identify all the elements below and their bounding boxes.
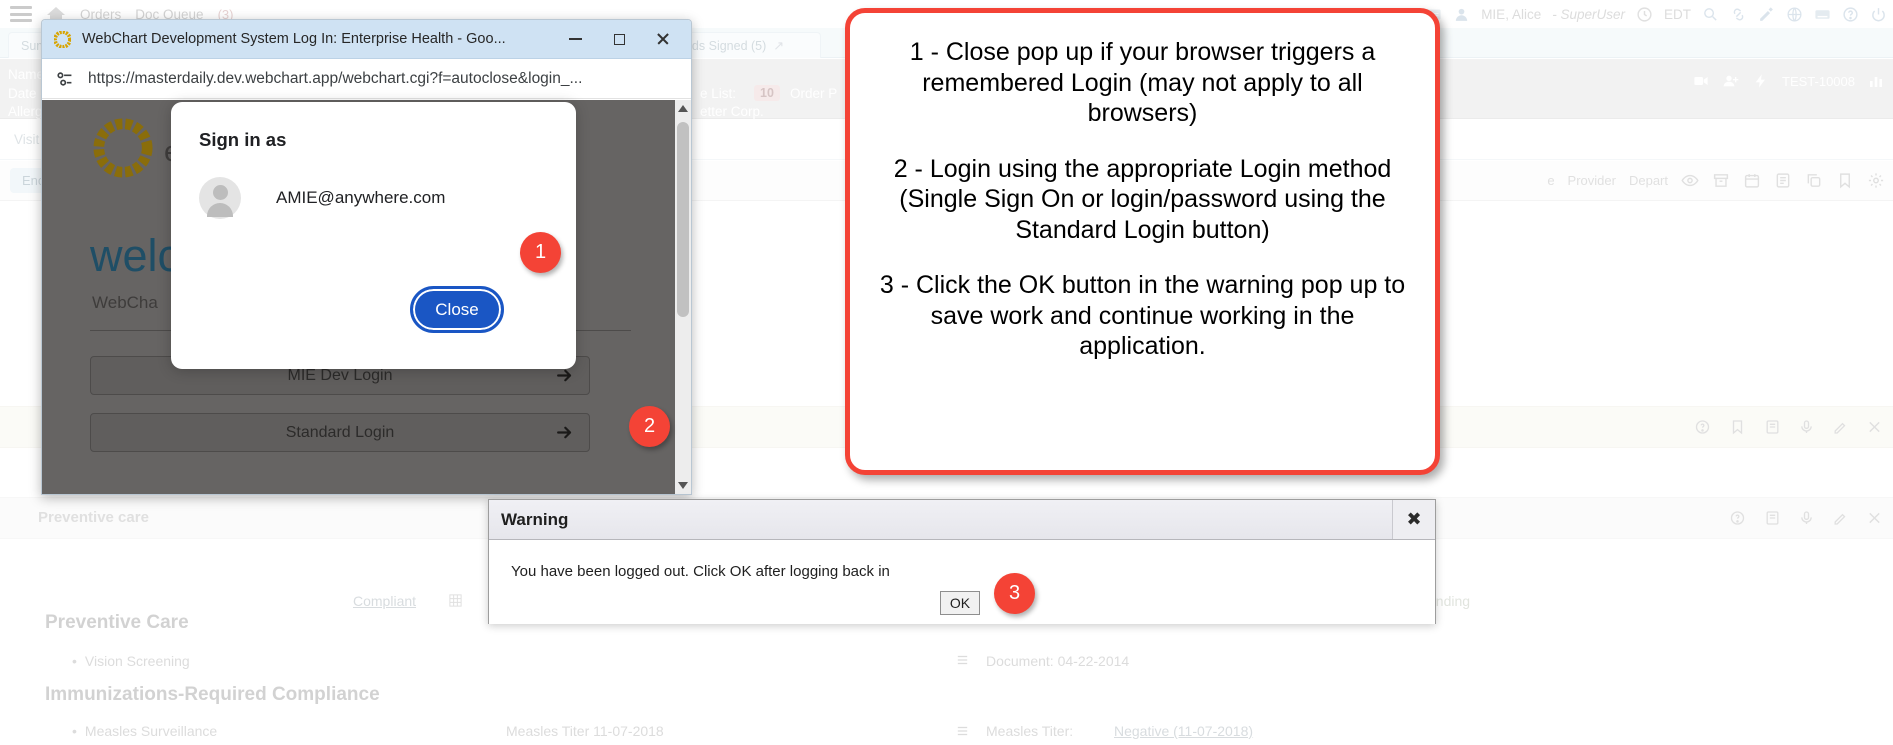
calendar-icon[interactable] xyxy=(1743,172,1761,189)
scroll-down-arrow-icon[interactable] xyxy=(678,482,688,489)
pencil-icon[interactable] xyxy=(1758,6,1775,23)
encounter-toolbar: e Provider Depart xyxy=(1547,172,1885,189)
preventive-care-heading: Preventive Care xyxy=(45,612,189,634)
help-icon[interactable] xyxy=(1842,6,1859,23)
measles-titer-result[interactable]: Negative (11-07-2018) xyxy=(1114,723,1253,739)
list-item-icon-2 xyxy=(955,724,970,738)
notes-band-icon-2[interactable] xyxy=(1764,510,1781,526)
standard-login-button[interactable]: Standard Login xyxy=(90,413,590,452)
step-badge-2: 2 xyxy=(629,406,670,447)
help-circle-icon[interactable] xyxy=(1694,419,1711,435)
callout-step-2: 2 - Login using the appropriate Login me… xyxy=(878,154,1407,246)
mic-band-icon[interactable] xyxy=(1798,419,1815,435)
browser-url-text: https://masterdaily.dev.webchart.app/web… xyxy=(88,70,582,88)
callout-step-3: 3 - Click the OK button in the warning p… xyxy=(878,270,1407,362)
video-camera-icon[interactable] xyxy=(1692,73,1710,89)
warning-dialog-title: Warning xyxy=(501,510,1392,530)
warning-message: You have been logged out. Click OK after… xyxy=(511,563,890,580)
sign-in-account-row[interactable]: AMIE@anywhere.com xyxy=(199,177,445,219)
step-badge-1: 1 xyxy=(520,232,561,273)
preventive-care-band-title: Preventive care xyxy=(38,509,149,526)
search-icon[interactable] xyxy=(1702,6,1719,23)
account-avatar-icon xyxy=(199,177,241,219)
measles-surveillance-item: Measles Surveillance xyxy=(72,723,217,739)
welcome-subtitle: WebCha xyxy=(92,293,158,313)
warning-dialog-close-icon[interactable]: ✖ xyxy=(1392,500,1435,539)
link-icon[interactable] xyxy=(1730,6,1747,23)
help-circle-icon-2[interactable] xyxy=(1729,510,1746,526)
sign-in-as-title: Sign in as xyxy=(199,129,286,151)
warning-dialog: Warning ✖ You have been logged out. Clic… xyxy=(488,499,1436,624)
ehr-top-right-toolbar: MIE, Alice - SuperUser EDT xyxy=(1425,0,1887,28)
close-band-icon[interactable] xyxy=(1866,419,1883,435)
bookmark-icon[interactable] xyxy=(1836,172,1854,189)
enterprise-health-favicon-icon xyxy=(54,31,71,48)
patient-record-id: TEST-10008 xyxy=(1782,74,1855,89)
welcome-heading: welc xyxy=(90,230,180,282)
demo-list-label: e List: xyxy=(700,86,736,101)
archive-icon[interactable] xyxy=(1712,172,1730,189)
step-badge-3: 3 xyxy=(994,573,1035,614)
eye-icon[interactable] xyxy=(1681,172,1699,189)
screenshot-root: Orders Doc Queue (3) MIE, Alice - SuperU… xyxy=(0,0,1893,745)
tab-needs-signed-popout-icon[interactable]: ↗ xyxy=(773,38,784,54)
current-user-name: MIE, Alice xyxy=(1481,7,1541,22)
instruction-callout: 1 - Close pop up if your browser trigger… xyxy=(845,8,1440,475)
mie-dev-login-label: MIE Dev Login xyxy=(288,367,393,385)
measles-titer-result-prefix: Measles Titer: xyxy=(986,723,1073,739)
chart-bar-icon[interactable] xyxy=(1867,73,1885,89)
user-avatar-icon[interactable] xyxy=(1453,6,1470,23)
current-user-role: - SuperUser xyxy=(1552,7,1625,22)
edit-band-icon[interactable] xyxy=(1832,419,1849,435)
list-item-icon-1 xyxy=(955,653,970,667)
site-permissions-icon[interactable] xyxy=(54,68,76,90)
add-user-icon[interactable] xyxy=(1722,73,1740,89)
notes-band-icon[interactable] xyxy=(1764,419,1781,435)
callout-step-1: 1 - Close pop up if your browser trigger… xyxy=(878,37,1407,129)
window-minimize-button[interactable] xyxy=(553,20,597,59)
sign-in-as-modal: Sign in as AMIE@anywhere.com Close xyxy=(171,102,576,369)
browser-scrollbar[interactable] xyxy=(675,100,691,494)
lightning-icon[interactable] xyxy=(1752,73,1770,89)
browser-address-bar[interactable]: https://masterdaily.dev.webchart.app/web… xyxy=(42,59,691,99)
keyboard-icon[interactable] xyxy=(1814,6,1831,23)
globe-icon[interactable] xyxy=(1786,6,1803,23)
browser-title-bar[interactable]: WebChart Development System Log In: Ente… xyxy=(42,20,691,59)
window-maximize-button[interactable] xyxy=(597,20,641,59)
demo-employer: etter Corp. xyxy=(700,104,764,119)
enterprise-health-logo-icon xyxy=(92,117,154,179)
measles-titer-date: Measles Titer 11-07-2018 xyxy=(506,723,664,739)
account-email: AMIE@anywhere.com xyxy=(276,188,445,208)
encounter-col-depart: Depart xyxy=(1629,173,1668,188)
compliant-link[interactable]: Compliant xyxy=(353,593,416,609)
close-band-icon-2[interactable] xyxy=(1866,510,1883,526)
gear-icon[interactable] xyxy=(1867,172,1885,189)
warning-dialog-body: You have been logged out. Click OK after… xyxy=(489,540,1435,624)
scroll-up-arrow-icon[interactable] xyxy=(678,105,688,112)
clock-icon xyxy=(1636,6,1653,23)
edit-band-icon-2[interactable] xyxy=(1832,510,1849,526)
window-close-button[interactable] xyxy=(641,20,685,59)
power-icon[interactable] xyxy=(1870,6,1887,23)
grid-icon[interactable] xyxy=(448,593,463,608)
arrow-right-icon-2 xyxy=(555,423,574,442)
demographics-toolbar: TEST-10008 xyxy=(1692,73,1885,89)
demo-list-count-badge: 10 xyxy=(754,85,780,101)
encounter-col-e: e xyxy=(1547,173,1554,188)
timezone-label: EDT xyxy=(1664,7,1691,22)
standard-login-label: Standard Login xyxy=(286,424,395,442)
scrollbar-thumb[interactable] xyxy=(677,122,689,317)
notes-icon[interactable] xyxy=(1774,172,1792,189)
immunizations-heading: Immunizations-Required Compliance xyxy=(45,684,380,706)
bookmark-band-icon[interactable] xyxy=(1729,419,1746,435)
encounter-col-provider: Provider xyxy=(1568,173,1616,188)
vision-screening-item: Vision Screening xyxy=(72,653,190,669)
menu-hamburger-icon[interactable] xyxy=(10,6,32,22)
warning-ok-button[interactable]: OK xyxy=(940,591,980,615)
browser-window-title: WebChart Development System Log In: Ente… xyxy=(82,31,553,47)
close-button[interactable]: Close xyxy=(410,286,504,333)
copy-icon[interactable] xyxy=(1805,172,1823,189)
demo-order-label: Order P xyxy=(790,86,837,101)
mic-band-icon-2[interactable] xyxy=(1798,510,1815,526)
warning-dialog-header: Warning ✖ xyxy=(489,500,1435,540)
document-entry: Document: 04-22-2014 xyxy=(986,653,1129,669)
visit-label: Visit xyxy=(14,132,39,147)
